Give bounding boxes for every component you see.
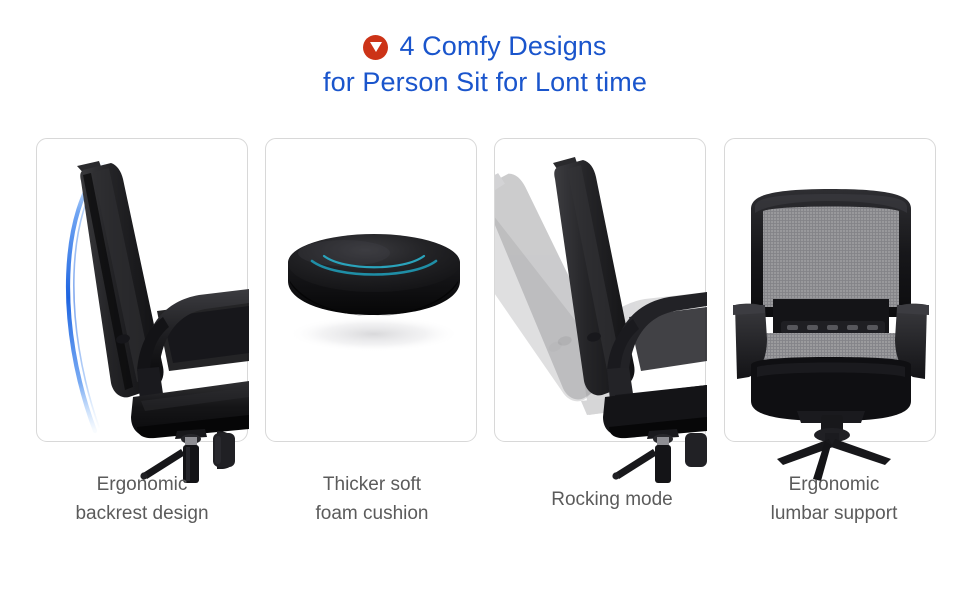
office-chair-reclining-positions-ghosted — [495, 139, 707, 443]
cushion-shadow — [288, 316, 460, 352]
header: 4 Comfy Designs for Person Sit for Lont … — [0, 28, 970, 100]
title-text-line-1: 4 Comfy Designs — [399, 28, 606, 64]
caption-rocking-mode: Rocking mode — [492, 485, 732, 514]
caption-ergonomic-backrest: Ergonomic backrest design — [22, 470, 262, 528]
caption-line-1: Rocking mode — [551, 489, 672, 510]
title-line-1: 4 Comfy Designs — [0, 28, 970, 64]
feature-card-grid — [0, 138, 970, 444]
caption-line-2: foam cushion — [252, 499, 492, 528]
feature-card-lumbar-support[interactable] — [724, 138, 936, 442]
triangle-glyph — [370, 42, 382, 52]
caption-line-1: Ergonomic — [789, 474, 880, 495]
thick-black-foam-seat-cushion — [266, 139, 478, 443]
feature-card-foam-cushion[interactable] — [265, 138, 477, 442]
office-chair-side-profile-with-blue-spine-curve — [37, 139, 249, 443]
caption-line-1: Thicker soft — [323, 474, 421, 495]
feature-card-rocking-mode[interactable] — [494, 138, 706, 442]
red-circle-down-triangle-icon — [363, 35, 388, 60]
caption-line-1: Ergonomic — [97, 474, 188, 495]
office-chair-rear-view-mesh-back-lumbar-bar — [725, 139, 937, 443]
feature-card-ergonomic-backrest[interactable] — [36, 138, 248, 442]
caption-line-2: lumbar support — [714, 499, 954, 528]
caption-foam-cushion: Thicker soft foam cushion — [252, 470, 492, 528]
title-text-line-2: for Person Sit for Lont time — [0, 64, 970, 100]
caption-row: Ergonomic backrest design Thicker soft f… — [0, 470, 970, 550]
caption-line-2: backrest design — [22, 499, 262, 528]
caption-lumbar-support: Ergonomic lumbar support — [714, 470, 954, 528]
